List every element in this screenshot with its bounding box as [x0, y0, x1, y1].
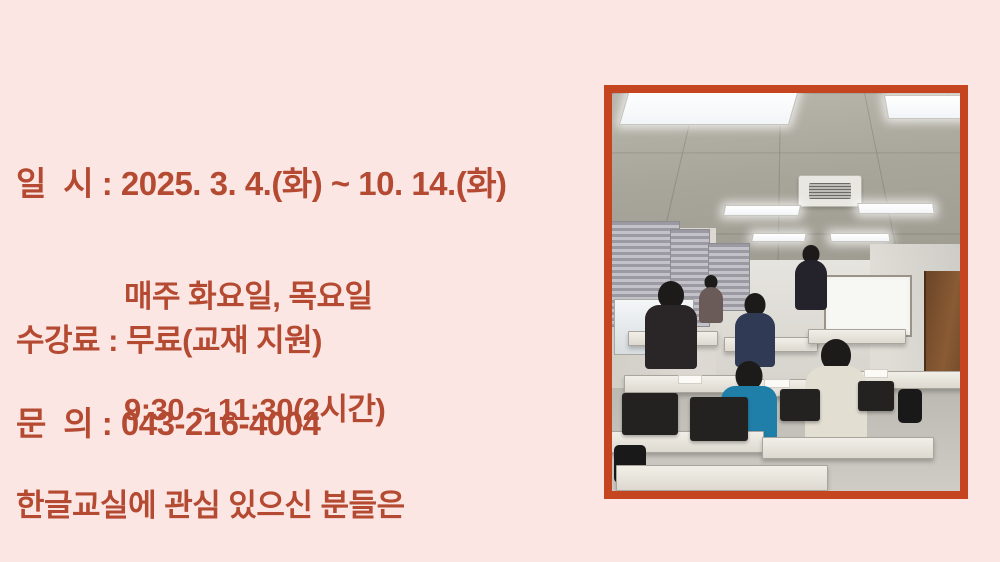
chair — [622, 393, 678, 435]
backpack — [898, 389, 922, 423]
ceiling-light-panel — [884, 95, 960, 119]
student-figure — [644, 281, 698, 369]
figure-body — [795, 260, 827, 310]
schedule-line-dates: 일 시 : 2025. 3. 4.(화) ~ 10. 14.(화) — [16, 165, 507, 203]
whiteboard — [824, 275, 912, 337]
desk — [762, 437, 934, 459]
callout-line-1: 한글교실에 관심 있으신 분들은 — [16, 487, 405, 526]
callout-block: 한글교실에 관심 있으신 분들은 많은 신청 부탁드립니다~ — [16, 409, 405, 562]
classroom-photo — [612, 93, 960, 491]
poster-text-column: 일 시 : 2025. 3. 4.(화) ~ 10. 14.(화) 매주 화요일… — [0, 0, 600, 562]
chair — [690, 397, 748, 441]
ceiling-light-panel — [857, 203, 935, 214]
student-figure — [734, 293, 776, 365]
worksheet-paper — [678, 375, 702, 384]
figure-body — [699, 287, 723, 323]
ceiling-light-panel — [830, 233, 891, 242]
poster-canvas: 일 시 : 2025. 3. 4.(화) ~ 10. 14.(화) 매주 화요일… — [0, 0, 1000, 562]
figure-body — [645, 305, 697, 369]
chair — [780, 389, 820, 421]
ceiling-light-panel — [751, 233, 807, 242]
desk — [616, 465, 828, 491]
figure-body — [735, 313, 775, 367]
ceiling-air-conditioner — [798, 175, 862, 207]
chair — [858, 381, 894, 411]
classroom-photo-frame — [604, 85, 968, 499]
ceiling-light-panel — [619, 93, 799, 125]
ceiling-light-panel — [723, 205, 801, 216]
student-figure — [698, 275, 724, 323]
instructor-figure — [794, 245, 828, 309]
